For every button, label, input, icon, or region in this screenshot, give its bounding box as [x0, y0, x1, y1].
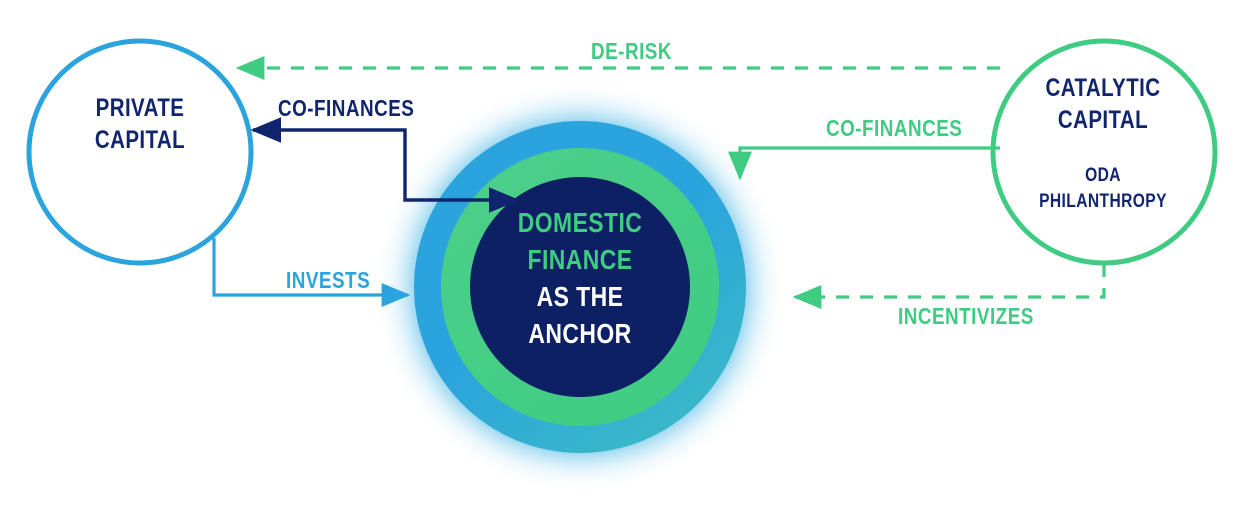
edge-label-co-finances-left: CO-FINANCES [278, 95, 414, 122]
catalytic-capital-label: CATALYTIC CAPITAL [1014, 72, 1191, 136]
catalytic-capital-line1: CATALYTIC [1014, 72, 1191, 104]
private-capital-line1: PRIVATE [48, 92, 232, 124]
edge-label-co-finances-right: CO-FINANCES [826, 115, 962, 142]
catalytic-capital-line2: CAPITAL [1014, 104, 1191, 136]
edge-label-invests: INVESTS [286, 267, 370, 294]
catalytic-capital-subline2: PHILANTHROPY [1014, 189, 1191, 215]
core-line3: AS THE [483, 279, 677, 316]
private-capital-label: PRIVATE CAPITAL [48, 92, 232, 156]
core-line4: ANCHOR [483, 316, 677, 353]
core-line1: DOMESTIC [483, 205, 677, 242]
edge-co-finances-right[interactable] [740, 148, 1000, 178]
edge-label-de-risk: DE-RISK [591, 38, 672, 65]
catalytic-capital-sublabel: ODA PHILANTHROPY [1014, 163, 1191, 214]
diagram-canvas: PRIVATE CAPITAL CATALYTIC CAPITAL ODA PH… [0, 0, 1248, 532]
edge-label-incentivizes: INCENTIVIZES [898, 303, 1034, 330]
edge-incentivizes[interactable] [795, 264, 1104, 297]
catalytic-capital-subline1: ODA [1014, 163, 1191, 189]
domestic-finance-label: DOMESTIC FINANCE AS THE ANCHOR [483, 205, 677, 353]
core-line2: FINANCE [483, 242, 677, 279]
private-capital-line2: CAPITAL [48, 124, 232, 156]
